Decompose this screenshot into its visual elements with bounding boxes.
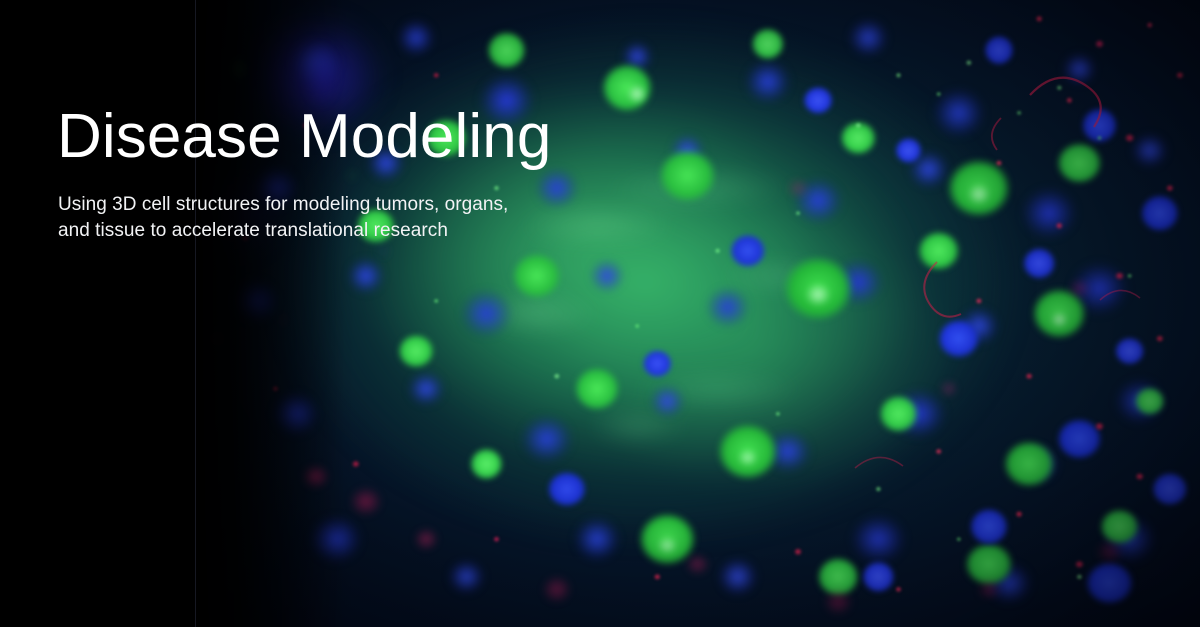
page-title: Disease Modeling	[57, 106, 551, 168]
hero-subtitle-line-2: and tissue to accelerate translational r…	[58, 218, 508, 244]
hero-banner: Disease Modeling Using 3D cell structure…	[0, 0, 1200, 627]
left-black-panel	[0, 0, 196, 627]
left-image-fade	[195, 0, 345, 627]
hero-subtitle: Using 3D cell structures for modeling tu…	[58, 192, 508, 244]
hero-subtitle-line-1: Using 3D cell structures for modeling tu…	[58, 192, 508, 218]
panel-seam-divider	[195, 0, 196, 627]
